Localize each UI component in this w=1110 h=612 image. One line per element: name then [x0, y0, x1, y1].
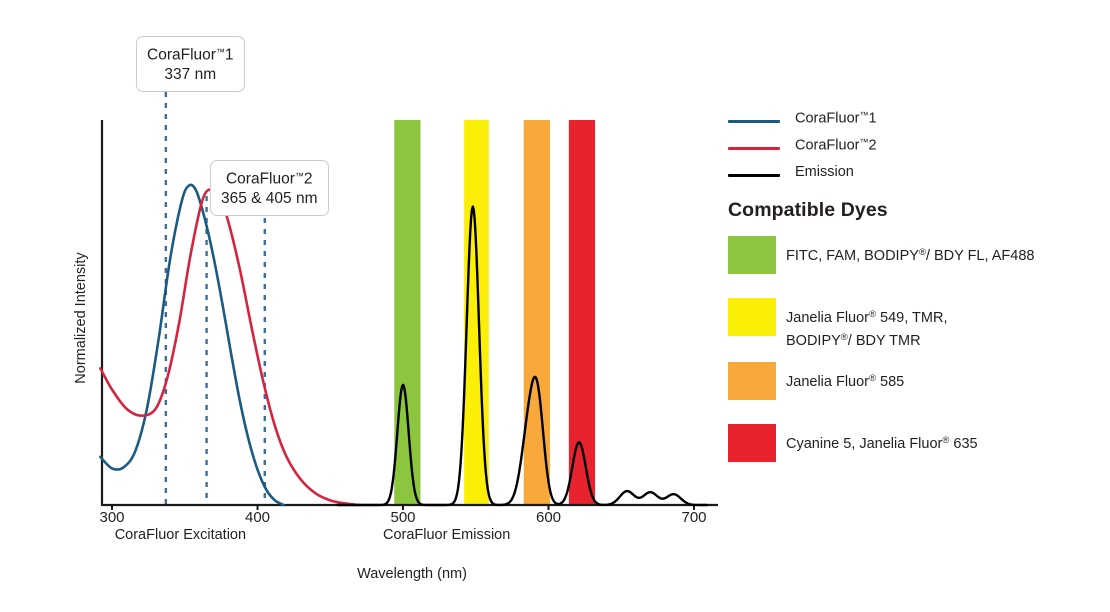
- registered-symbol: ®: [869, 373, 876, 384]
- dye-label-line: BODIPY®/ BDY TMR: [786, 328, 947, 351]
- callout-cf2-value: 365 & 405 nm: [221, 189, 318, 208]
- x-axis-title: Wavelength (nm): [357, 566, 467, 582]
- legend-line-swatch: [728, 174, 780, 177]
- series-legend: CoraFluor™1CoraFluor™2Emission: [728, 108, 1098, 189]
- registered-symbol: ®: [919, 247, 926, 258]
- region-label-excitation: CoraFluor Excitation: [115, 527, 246, 543]
- dye-label: Janelia Fluor® 549, TMR,BODIPY®/ BDY TMR: [786, 305, 947, 351]
- dye-label-line: FITC, FAM, BODIPY®/ BDY FL, AF488: [786, 243, 1034, 266]
- callout-cf1-title: CoraFluor™1: [147, 43, 234, 65]
- curve-emission: [338, 207, 707, 505]
- x-tick-label-300: 300: [99, 509, 124, 526]
- dye-color-swatch: [728, 236, 776, 274]
- dye-row-1: FITC, FAM, BODIPY®/ BDY FL, AF488: [728, 236, 1100, 296]
- dye-label: Cyanine 5, Janelia Fluor® 635: [786, 431, 978, 454]
- legend-row-2: CoraFluor™2: [728, 135, 1098, 162]
- legend-row-1: CoraFluor™1: [728, 108, 1098, 135]
- x-tick-label-700: 700: [681, 509, 706, 526]
- green-band: [394, 120, 420, 505]
- dye-row-3: Janelia Fluor® 585: [728, 362, 1100, 422]
- dye-row-4: Cyanine 5, Janelia Fluor® 635: [728, 424, 1100, 484]
- dye-label-line: Janelia Fluor® 585: [786, 369, 904, 392]
- legend-line-swatch: [728, 147, 780, 150]
- trademark-symbol: ™: [859, 137, 868, 147]
- callout-cf2-title: CoraFluor™2: [221, 167, 318, 189]
- registered-symbol: ®: [942, 435, 949, 446]
- dye-color-swatch: [728, 424, 776, 462]
- dye-label: Janelia Fluor® 585: [786, 369, 904, 392]
- dye-label: FITC, FAM, BODIPY®/ BDY FL, AF488: [786, 243, 1034, 266]
- callout-corafluor-2: CoraFluor™2 365 & 405 nm: [210, 160, 329, 216]
- registered-symbol: ®: [841, 332, 848, 343]
- x-tick-label-400: 400: [245, 509, 270, 526]
- dye-color-swatch: [728, 298, 776, 336]
- spectra-figure: CoraFluor™1 337 nm CoraFluor™2 365 & 405…: [0, 0, 1110, 612]
- legend-label: Emission: [795, 164, 854, 180]
- orange-band: [524, 120, 550, 505]
- legend-row-3: Emission: [728, 162, 1098, 189]
- dye-color-swatch: [728, 362, 776, 400]
- legend-label: CoraFluor™1: [795, 110, 877, 127]
- compatible-dyes-heading: Compatible Dyes: [728, 199, 888, 222]
- trademark-symbol: ™: [295, 171, 304, 181]
- region-label-emission: CoraFluor Emission: [383, 527, 510, 543]
- dye-label-line: Janelia Fluor® 549, TMR,: [786, 305, 947, 328]
- callout-corafluor-1: CoraFluor™1 337 nm: [136, 36, 245, 92]
- callout-cf1-value: 337 nm: [147, 65, 234, 84]
- x-tick-label-500: 500: [390, 509, 415, 526]
- x-tick-label-600: 600: [536, 509, 561, 526]
- trademark-symbol: ™: [859, 110, 868, 120]
- registered-symbol: ®: [869, 309, 876, 320]
- trademark-symbol: ™: [216, 47, 225, 57]
- legend-line-swatch: [728, 120, 780, 123]
- dye-label-line: Cyanine 5, Janelia Fluor® 635: [786, 431, 978, 454]
- y-axis-title: Normalized Intensity: [73, 228, 89, 408]
- dye-row-2: Janelia Fluor® 549, TMR,BODIPY®/ BDY TMR: [728, 298, 1100, 358]
- legend-label: CoraFluor™2: [795, 137, 877, 154]
